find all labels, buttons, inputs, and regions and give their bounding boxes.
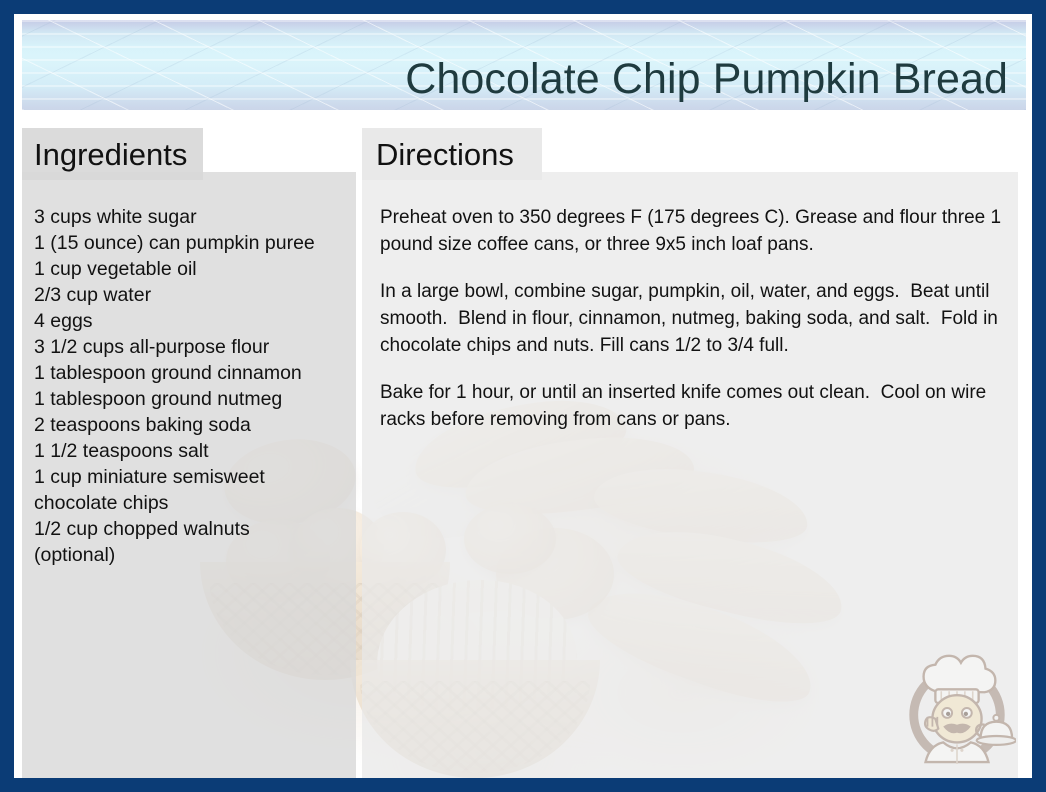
recipe-slide: Chocolate Chip Pumpkin Bread Ingredients… bbox=[0, 0, 1046, 792]
ingredients-heading-box: Ingredients bbox=[22, 128, 203, 180]
list-item: 3 cups white sugar bbox=[34, 204, 354, 230]
list-item: chocolate chips bbox=[34, 490, 354, 516]
list-item: 3 1/2 cups all-purpose flour bbox=[34, 334, 354, 360]
list-item: 1 cup vegetable oil bbox=[34, 256, 354, 282]
title-banner: Chocolate Chip Pumpkin Bread bbox=[22, 20, 1026, 110]
directions-heading-box: Directions bbox=[362, 128, 542, 180]
list-item: 4 eggs bbox=[34, 308, 354, 334]
direction-step: Preheat oven to 350 degrees F (175 degre… bbox=[380, 204, 1030, 258]
list-item: (optional) bbox=[34, 542, 354, 568]
list-item: 1/2 cup chopped walnuts bbox=[34, 516, 354, 542]
list-item: 1 (15 ounce) can pumpkin puree bbox=[34, 230, 354, 256]
direction-step: In a large bowl, combine sugar, pumpkin,… bbox=[380, 278, 1030, 359]
direction-step: Bake for 1 hour, or until an inserted kn… bbox=[380, 379, 1030, 433]
ingredients-list: 3 cups white sugar 1 (15 ounce) can pump… bbox=[34, 204, 354, 568]
ingredients-heading: Ingredients bbox=[34, 139, 187, 170]
list-item: 1 1/2 teaspoons salt bbox=[34, 438, 354, 464]
directions-body: Preheat oven to 350 degrees F (175 degre… bbox=[380, 204, 1030, 453]
list-item: 2/3 cup water bbox=[34, 282, 354, 308]
list-item: 1 cup miniature semisweet bbox=[34, 464, 354, 490]
page-title: Chocolate Chip Pumpkin Bread bbox=[405, 57, 1008, 102]
list-item: 1 tablespoon ground cinnamon bbox=[34, 360, 354, 386]
list-item: 1 tablespoon ground nutmeg bbox=[34, 386, 354, 412]
directions-heading: Directions bbox=[376, 139, 514, 170]
list-item: 2 teaspoons baking soda bbox=[34, 412, 354, 438]
chef-mascot-logo bbox=[898, 648, 1016, 766]
